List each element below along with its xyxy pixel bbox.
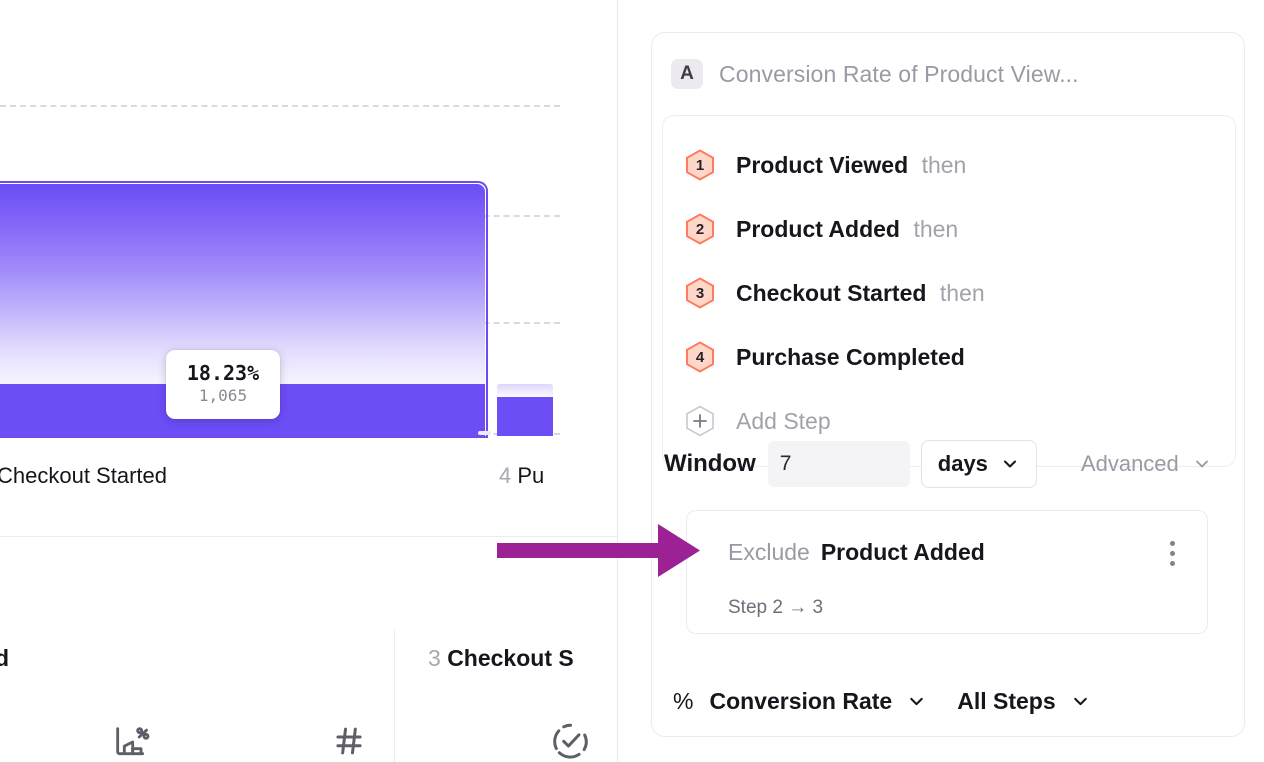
- metric-dropdown-value: Conversion Rate: [709, 688, 892, 715]
- bar-dropoff-gradient: [497, 384, 553, 397]
- step-number: 1: [683, 148, 717, 182]
- plus-hexagon-icon: [683, 404, 717, 438]
- window-value-input[interactable]: [768, 441, 910, 487]
- step-label-group: Product Added then: [736, 216, 958, 243]
- percent-icon: %: [673, 688, 693, 715]
- exclude-event-name[interactable]: Product Added: [821, 539, 985, 566]
- window-unit-value: days: [938, 451, 988, 477]
- exclude-step-range: Step 2 → 3: [728, 597, 823, 619]
- step-row-3[interactable]: 3 Checkout Started then: [663, 261, 1235, 325]
- window-unit-dropdown[interactable]: days: [921, 440, 1037, 488]
- add-step-label: Add Step: [736, 408, 831, 435]
- step-number: 4: [683, 340, 717, 374]
- chevron-down-icon: [906, 691, 927, 712]
- panel-divider: [394, 630, 395, 762]
- exclude-rule-title-row: Exclude Product Added: [728, 539, 1207, 566]
- window-label: Window: [664, 450, 756, 478]
- exclude-rule-card[interactable]: Exclude Product Added Step 2 → 3: [686, 510, 1208, 634]
- screen-root: 18.23% 1,065 Checkout Started 4 Pu d 3 C…: [0, 0, 1264, 762]
- metric-dropdown[interactable]: Conversion Rate: [709, 688, 927, 715]
- axis-label-purchase-completed: 4 Pu: [499, 463, 544, 489]
- chart-tooltip: 18.23% 1,065: [166, 350, 280, 419]
- step-hexagon-icon: 2: [683, 212, 717, 246]
- step-hexagon-icon: 1: [683, 148, 717, 182]
- check-circle-dashed-icon[interactable]: [549, 720, 591, 762]
- metric-label-number: 3: [428, 645, 441, 671]
- step-connector: then: [922, 152, 967, 178]
- scope-dropdown[interactable]: All Steps: [957, 688, 1090, 715]
- annotation-arrow: [490, 515, 705, 585]
- chevron-down-icon: [1070, 691, 1091, 712]
- series-badge: A: [671, 59, 703, 89]
- step-number: 3: [683, 276, 717, 310]
- funnel-bar-purchase-completed[interactable]: [497, 384, 553, 436]
- axis-label-checkout-started: Checkout Started: [0, 463, 167, 489]
- chevron-down-icon: [1000, 454, 1020, 474]
- metric-label-product-added: d: [0, 645, 9, 672]
- axis-label-text: Pu: [517, 463, 544, 488]
- hash-icon[interactable]: [330, 722, 368, 762]
- step-connector: then: [913, 216, 958, 242]
- window-row: Window days Advanced: [664, 440, 1224, 488]
- step-event-name[interactable]: Product Viewed: [736, 152, 908, 178]
- step-label-group: Product Viewed then: [736, 152, 966, 179]
- metric-label-checkout-started: 3 Checkout S: [428, 645, 574, 672]
- step-label-group: Checkout Started then: [736, 280, 985, 307]
- kebab-menu-icon[interactable]: [1170, 541, 1175, 566]
- axis-tick: [478, 431, 491, 435]
- main-vertical-divider: [617, 0, 618, 762]
- step-number: 2: [683, 212, 717, 246]
- step-hexagon-icon: 3: [683, 276, 717, 310]
- panel-footer: % Conversion Rate All Steps: [651, 665, 1245, 737]
- step-connector: then: [940, 280, 985, 306]
- advanced-label: Advanced: [1081, 451, 1179, 477]
- axis-label-number: 4: [499, 463, 511, 488]
- step-event-name[interactable]: Checkout Started: [736, 280, 926, 306]
- funnel-chart-region: 18.23% 1,065 Checkout Started 4 Pu d 3 C…: [0, 0, 617, 762]
- gridline: [0, 105, 560, 107]
- panel-header[interactable]: A Conversion Rate of Product View...: [652, 33, 1244, 115]
- funnel-percent-icon[interactable]: [110, 722, 152, 762]
- advanced-dropdown[interactable]: Advanced: [1081, 451, 1212, 477]
- chevron-down-icon: [1192, 454, 1212, 474]
- tooltip-count: 1,065: [199, 384, 247, 408]
- tooltip-percent: 18.23%: [187, 362, 259, 384]
- steps-card: 1 Product Viewed then 2 Product Added th…: [662, 115, 1236, 467]
- step-row-2[interactable]: 2 Product Added then: [663, 197, 1235, 261]
- step-hexagon-icon: 4: [683, 340, 717, 374]
- scope-dropdown-value: All Steps: [957, 688, 1055, 715]
- step-row-1[interactable]: 1 Product Viewed then: [663, 133, 1235, 197]
- exclude-keyword: Exclude: [728, 539, 810, 566]
- panel-title[interactable]: Conversion Rate of Product View...: [719, 61, 1079, 88]
- step-event-name[interactable]: Purchase Completed: [736, 344, 965, 370]
- bar-converted-solid: [497, 397, 553, 436]
- metric-label-text: Checkout S: [447, 645, 574, 671]
- step-event-name[interactable]: Product Added: [736, 216, 900, 242]
- step-row-4[interactable]: 4 Purchase Completed: [663, 325, 1235, 389]
- step-label-group: Purchase Completed: [736, 344, 974, 371]
